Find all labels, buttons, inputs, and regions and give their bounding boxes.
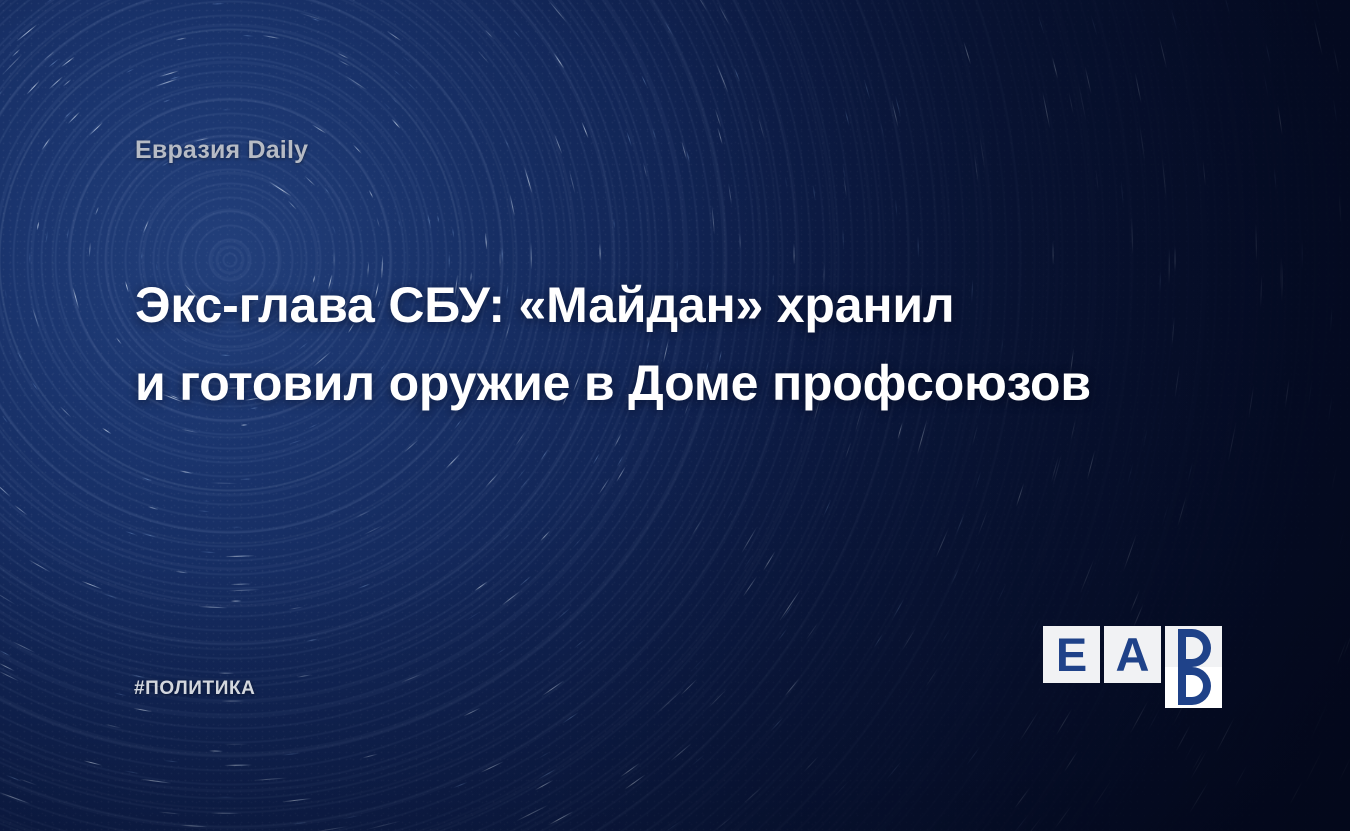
brand-title: Евразия Daily [135,136,308,165]
logo-letter-d-top [1165,626,1222,667]
logo-letter-a: A [1104,626,1161,683]
logo-letter-e: E [1043,626,1100,683]
logo-letter-d-bottom [1165,667,1222,708]
logo-tile-d [1165,626,1222,708]
eadaily-logo[interactable]: E A [1043,626,1222,708]
page-title: Экс-глава СБУ: «Майдан» хранил и готовил… [135,266,1215,422]
headline-line-2: и готовил оружие в Доме профсоюзов [135,344,1215,422]
logo-tile-a: A [1104,626,1161,683]
logo-tile-e: E [1043,626,1100,683]
headline-line-1: Экс-глава СБУ: «Майдан» хранил [135,266,1215,344]
news-card: Евразия Daily Экс-глава СБУ: «Майдан» хр… [0,0,1350,831]
category-hashtag[interactable]: #ПОЛИТИКА [134,678,256,700]
card-content: Евразия Daily Экс-глава СБУ: «Майдан» хр… [0,0,1350,831]
